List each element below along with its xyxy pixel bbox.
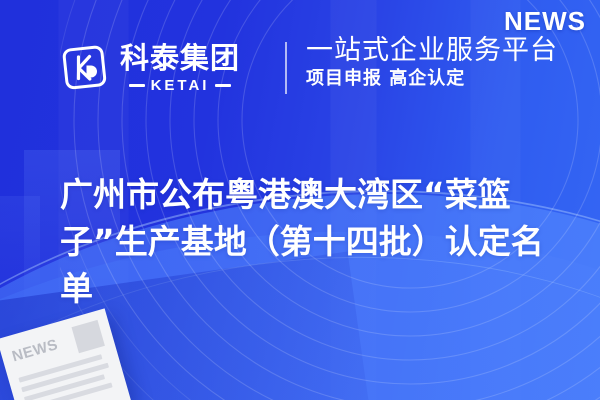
newspaper-thumbnail-icon bbox=[72, 320, 105, 353]
brand-name-en-row: KETAI bbox=[129, 78, 232, 93]
page-title: 广州市公布粤港澳大湾区“菜篮子”生产基地（第十四批）认定名单 bbox=[60, 172, 550, 313]
newspaper-card-title: NEWS bbox=[9, 332, 60, 364]
banner-header: NEWS 科泰集团 KETAI 一站式企业服务 bbox=[0, 0, 600, 140]
brand-rule-left-icon bbox=[129, 84, 145, 87]
brand-name-cn: 科泰集团 bbox=[120, 44, 240, 73]
brand-name-en: KETAI bbox=[151, 78, 210, 93]
tagline-main: 一站式企业服务平台 bbox=[306, 36, 558, 66]
brand-lockup[interactable]: 科泰集团 KETAI bbox=[58, 42, 240, 94]
ketai-logo-icon bbox=[58, 42, 110, 94]
header-divider bbox=[285, 42, 287, 94]
news-banner: NEWS 科泰集团 KETAI 一站式企业服务 bbox=[0, 0, 600, 400]
news-kicker-label: NEWS bbox=[504, 6, 586, 37]
tagline-block: 一站式企业服务平台 项目申报 高企认定 bbox=[306, 36, 558, 90]
tagline-sub: 项目申报 高企认定 bbox=[306, 68, 558, 90]
brand-rule-right-icon bbox=[215, 84, 231, 87]
brand-wordmark: 科泰集团 KETAI bbox=[120, 44, 240, 93]
